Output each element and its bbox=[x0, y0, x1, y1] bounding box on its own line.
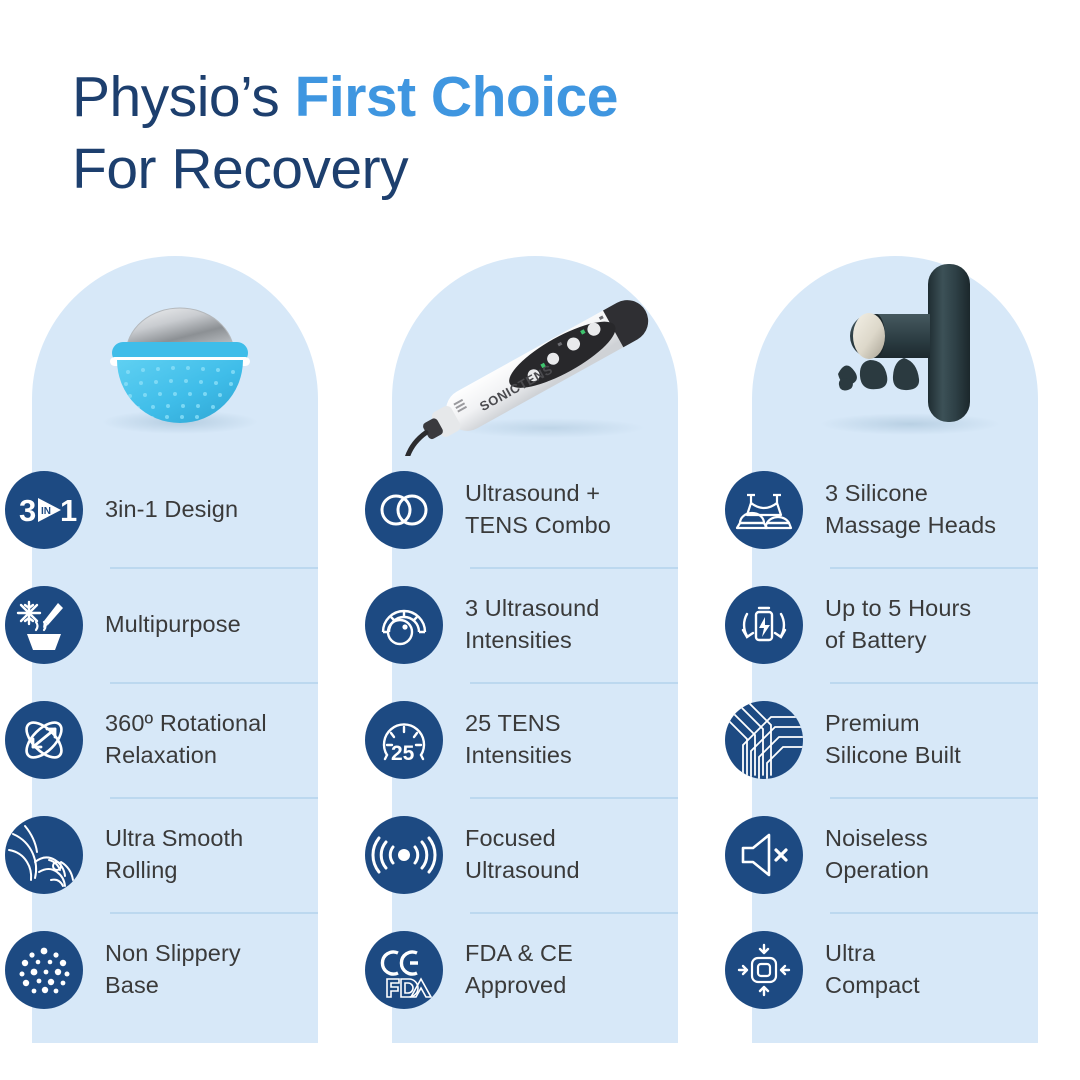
snowflake-hot-cold-icon bbox=[5, 586, 83, 664]
feature-item[interactable]: Up to 5 Hours of Battery bbox=[720, 567, 1080, 682]
three-massage-heads-icon bbox=[725, 471, 803, 549]
feature-item[interactable]: Ultra Smooth Rolling bbox=[0, 797, 360, 912]
feature-item[interactable]: Ultra Compact bbox=[720, 912, 1080, 1027]
feature-item[interactable]: 360º Rotational Relaxation bbox=[0, 682, 360, 797]
feature-columns: 3 IN 1 3in-1 Design bbox=[0, 256, 1080, 1046]
product-column-sonictens: SONICTENS bbox=[360, 256, 720, 1046]
feature-label: Focused Ultrasound bbox=[465, 823, 714, 885]
svg-text:IN: IN bbox=[41, 506, 51, 517]
feature-label: Ultra Smooth Rolling bbox=[105, 823, 354, 885]
feature-item[interactable]: Premium Silicone Built bbox=[720, 682, 1080, 797]
feature-label: Non Slippery Base bbox=[105, 938, 354, 1000]
non-slip-dots-icon bbox=[5, 931, 83, 1009]
3-in-1-icon: 3 IN 1 bbox=[5, 471, 83, 549]
product-image-massage-roller-ball bbox=[0, 256, 360, 452]
feature-item[interactable]: 3 IN 1 3in-1 Design bbox=[0, 452, 360, 567]
headline-accent-text: First Choice bbox=[295, 65, 618, 129]
feature-item[interactable]: Focused Ultrasound bbox=[360, 797, 720, 912]
feature-list: 3 IN 1 3in-1 Design bbox=[0, 452, 360, 1027]
feature-label: 3 Ultrasound Intensities bbox=[465, 593, 714, 655]
feature-item[interactable]: Multipurpose bbox=[0, 567, 360, 682]
product-column-roller-ball: 3 IN 1 3in-1 Design bbox=[0, 256, 360, 1046]
feature-item[interactable]: Noiseless Operation bbox=[720, 797, 1080, 912]
feature-label: 360º Rotational Relaxation bbox=[105, 708, 354, 770]
feature-label: 25 TENS Intensities bbox=[465, 708, 714, 770]
focused-waves-icon bbox=[365, 816, 443, 894]
feature-item[interactable]: FDA & CE Approved bbox=[360, 912, 720, 1027]
360-rotation-icon bbox=[5, 701, 83, 779]
svg-text:3: 3 bbox=[19, 493, 36, 528]
feature-label: Noiseless Operation bbox=[825, 823, 1080, 885]
feature-label: Up to 5 Hours of Battery bbox=[825, 593, 1080, 655]
feature-item[interactable]: Ultrasound + TENS Combo bbox=[360, 452, 720, 567]
product-image-sonictens-device: SONICTENS bbox=[360, 256, 720, 452]
intensity-dial-icon bbox=[365, 586, 443, 664]
headline-plain-text: Physio’s bbox=[72, 65, 295, 129]
gauge-25-icon: 25 bbox=[365, 701, 443, 779]
product-column-massage-gun: 3 Silicone Massage Heads bbox=[720, 256, 1080, 1046]
feature-label: Ultrasound + TENS Combo bbox=[465, 478, 714, 540]
feature-list: Ultrasound + TENS Combo bbox=[360, 452, 720, 1027]
feature-item[interactable]: Non Slippery Base bbox=[0, 912, 360, 1027]
feature-item[interactable]: 3 Silicone Massage Heads bbox=[720, 452, 1080, 567]
battery-recharge-icon bbox=[725, 586, 803, 664]
muted-speaker-icon bbox=[725, 816, 803, 894]
circuit-lines-icon bbox=[725, 701, 803, 779]
feature-label: Ultra Compact bbox=[825, 938, 1080, 1000]
two-overlapping-circles-icon bbox=[365, 471, 443, 549]
headline-line-2: For Recovery bbox=[72, 134, 972, 206]
page-title: Physio’s First Choice For Recovery bbox=[72, 62, 972, 206]
product-image-massage-gun bbox=[720, 256, 1080, 452]
feature-list: 3 Silicone Massage Heads bbox=[720, 452, 1080, 1027]
compact-arrows-icon bbox=[725, 931, 803, 1009]
feature-item[interactable]: 25 25 TENS Intensities bbox=[360, 682, 720, 797]
svg-text:1: 1 bbox=[60, 493, 77, 528]
ce-fda-icon bbox=[365, 931, 443, 1009]
feature-item[interactable]: 3 Ultrasound Intensities bbox=[360, 567, 720, 682]
svg-text:25: 25 bbox=[391, 742, 415, 765]
headline-line-1: Physio’s First Choice bbox=[72, 62, 972, 134]
feature-label: Premium Silicone Built bbox=[825, 708, 1080, 770]
feature-label: 3 Silicone Massage Heads bbox=[825, 478, 1080, 540]
feature-label: Multipurpose bbox=[105, 609, 354, 640]
feature-label: 3in-1 Design bbox=[105, 494, 354, 525]
smooth-rolling-body-icon bbox=[5, 816, 83, 894]
feature-label: FDA & CE Approved bbox=[465, 938, 714, 1000]
